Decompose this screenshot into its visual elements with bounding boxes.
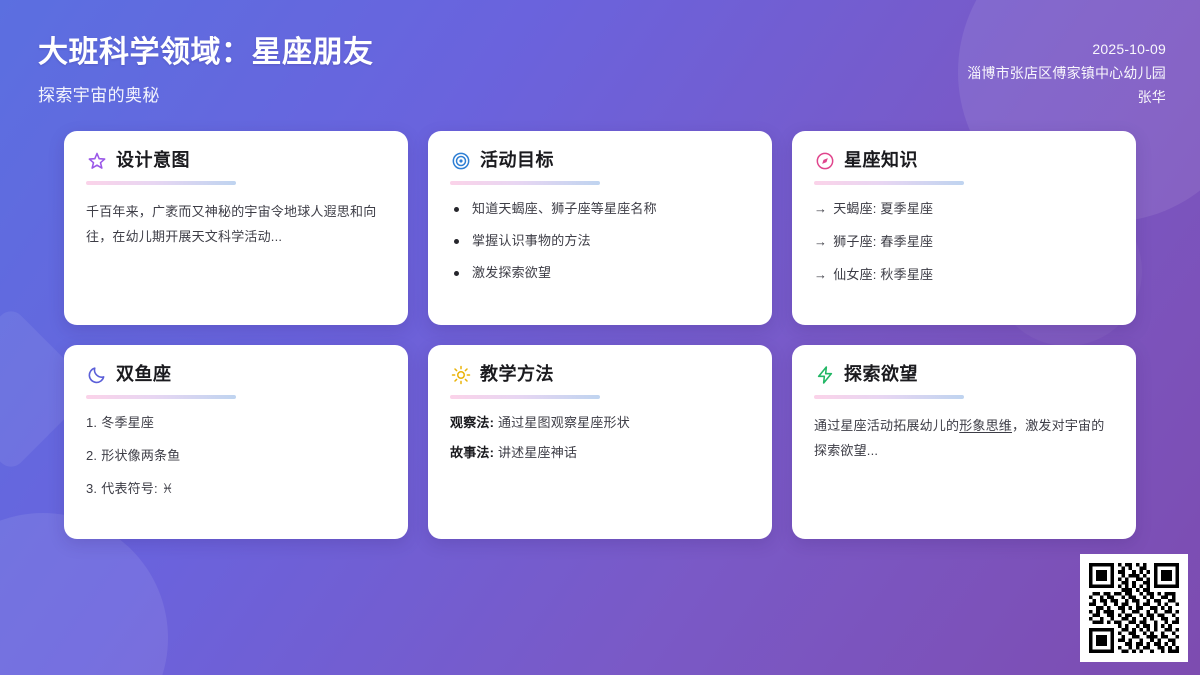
card-title: 探索欲望 xyxy=(844,365,918,385)
accent-bar xyxy=(814,181,964,185)
list-item: 1.冬季星座 xyxy=(86,413,386,433)
meta-date: 2025-10-09 xyxy=(967,37,1166,61)
card-design-intent[interactable]: 设计意图 千百年来，广袤而又神秘的宇宙令地球人遐思和向往，在幼儿期开展天文科学活… xyxy=(64,131,408,325)
meta-organization: 淄博市张店区傅家镇中心幼儿园 xyxy=(967,61,1166,85)
header-meta-group: 2025-10-09 淄博市张店区傅家镇中心幼儿园 张华 xyxy=(967,30,1166,109)
arrow-glyph: → xyxy=(814,234,827,249)
list-item: 2.形状像两条鱼 xyxy=(86,446,386,466)
list-index: 3. xyxy=(86,481,97,496)
accent-bar xyxy=(450,181,600,185)
meta-author: 张华 xyxy=(967,85,1166,109)
card-body: 通过星座活动拓展幼儿的形象思维，激发对宇宙的探索欲望... xyxy=(814,413,1114,464)
header-left-group: 大班科学领域：星座朋友 探索宇宙的奥秘 xyxy=(38,30,374,106)
card-exploration-desire[interactable]: 探索欲望 通过星座活动拓展幼儿的形象思维，激发对宇宙的探索欲望... xyxy=(792,345,1136,539)
card-teaching-methods[interactable]: 教学方法 观察法: 通过星图观察星座形状 故事法: 讲述星座神话 xyxy=(428,345,772,539)
paragraph-text: 千百年来，广袤而又神秘的宇宙令地球人遐思和向往，在幼儿期开展天文科学活动... xyxy=(86,204,376,244)
definition-term: 故事法: xyxy=(450,445,494,460)
sun-icon xyxy=(450,364,471,385)
list-item: 3.代表符号: ♓ xyxy=(86,479,386,499)
definition-desc: 通过星图观察星座形状 xyxy=(498,415,630,430)
accent-bar xyxy=(86,395,236,399)
card-body: →天蝎座: 夏季星座 →狮子座: 春季星座 →仙女座: 秋季星座 xyxy=(814,199,1114,285)
card-header: 双鱼座 xyxy=(86,364,386,385)
list-item-label: 形状像两条鱼 xyxy=(101,448,180,463)
card-header: 活动目标 xyxy=(450,150,750,171)
list-item: 观察法: 通过星图观察星座形状 xyxy=(450,413,750,434)
card-grid: 设计意图 千百年来，广袤而又神秘的宇宙令地球人遐思和向往，在幼儿期开展天文科学活… xyxy=(64,131,1136,539)
card-paragraph: 通过星座活动拓展幼儿的形象思维，激发对宇宙的探索欲望... xyxy=(814,413,1114,464)
list-item: 故事法: 讲述星座神话 xyxy=(450,443,750,464)
star-icon xyxy=(86,150,107,171)
qr-code-image xyxy=(1089,563,1179,653)
qr-code[interactable] xyxy=(1080,554,1188,662)
list-item-label: 狮子座: 春季星座 xyxy=(833,234,933,249)
card-paragraph: 千百年来，广袤而又神秘的宇宙令地球人遐思和向往，在幼儿期开展天文科学活动... xyxy=(86,199,386,250)
list-item: 掌握认识事物的方法 xyxy=(450,231,750,251)
card-header: 设计意图 xyxy=(86,150,386,171)
arrow-glyph: → xyxy=(814,201,827,216)
list-index: 1. xyxy=(86,415,97,430)
card-header: 探索欲望 xyxy=(814,364,1114,385)
accent-bar xyxy=(814,395,964,399)
accent-bar xyxy=(450,395,600,399)
slide-header: 大班科学领域：星座朋友 探索宇宙的奥秘 2025-10-09 淄博市张店区傅家镇… xyxy=(0,0,1200,128)
definition-desc: 讲述星座神话 xyxy=(498,445,577,460)
card-pisces[interactable]: 双鱼座 1.冬季星座 2.形状像两条鱼 3.代表符号: ♓ xyxy=(64,345,408,539)
list-item: →狮子座: 春季星座 xyxy=(814,232,1114,252)
card-header: 教学方法 xyxy=(450,364,750,385)
card-body: 千百年来，广袤而又神秘的宇宙令地球人遐思和向往，在幼儿期开展天文科学活动... xyxy=(86,199,386,250)
compass-icon xyxy=(814,150,835,171)
list-item-label: 天蝎座: 夏季星座 xyxy=(833,201,933,216)
list-item-label: 仙女座: 秋季星座 xyxy=(833,267,933,282)
target-icon xyxy=(450,150,471,171)
list-item-label: 冬季星座 xyxy=(101,415,154,430)
card-body: 1.冬季星座 2.形状像两条鱼 3.代表符号: ♓ xyxy=(86,413,386,499)
list-item: 激发探索欲望 xyxy=(450,263,750,283)
card-title: 双鱼座 xyxy=(116,365,172,385)
arrow-glyph: → xyxy=(814,267,827,282)
card-title: 设计意图 xyxy=(116,151,190,171)
slide-root: 大班科学领域：星座朋友 探索宇宙的奥秘 2025-10-09 淄博市张店区傅家镇… xyxy=(0,0,1200,675)
list-item: 知道天蝎座、狮子座等星座名称 xyxy=(450,199,750,219)
moon-icon xyxy=(86,364,107,385)
page-subtitle: 探索宇宙的奥秘 xyxy=(38,81,374,106)
card-constellation-knowledge[interactable]: 星座知识 →天蝎座: 夏季星座 →狮子座: 春季星座 →仙女座: 秋季星座 xyxy=(792,131,1136,325)
card-body: 观察法: 通过星图观察星座形状 故事法: 讲述星座神话 xyxy=(450,413,750,464)
bolt-icon xyxy=(814,364,835,385)
paragraph-text-pre: 通过星座活动拓展幼儿的 xyxy=(814,418,959,433)
definition-term: 观察法: xyxy=(450,415,494,430)
page-title: 大班科学领域：星座朋友 xyxy=(38,34,374,72)
card-header: 星座知识 xyxy=(814,150,1114,171)
list-index: 2. xyxy=(86,448,97,463)
card-activity-goals[interactable]: 活动目标 知道天蝎座、狮子座等星座名称 掌握认识事物的方法 激发探索欲望 xyxy=(428,131,772,325)
list-item-label: 代表符号: ♓ xyxy=(101,481,173,496)
card-title: 星座知识 xyxy=(844,151,918,171)
list-item: →天蝎座: 夏季星座 xyxy=(814,199,1114,219)
card-title: 活动目标 xyxy=(480,151,554,171)
paragraph-underlined-text: 形象思维 xyxy=(959,418,1012,433)
accent-bar xyxy=(86,181,236,185)
card-body: 知道天蝎座、狮子座等星座名称 掌握认识事物的方法 激发探索欲望 xyxy=(450,199,750,283)
goals-list: 知道天蝎座、狮子座等星座名称 掌握认识事物的方法 激发探索欲望 xyxy=(450,199,750,283)
list-item: →仙女座: 秋季星座 xyxy=(814,265,1114,285)
card-title: 教学方法 xyxy=(480,365,554,385)
